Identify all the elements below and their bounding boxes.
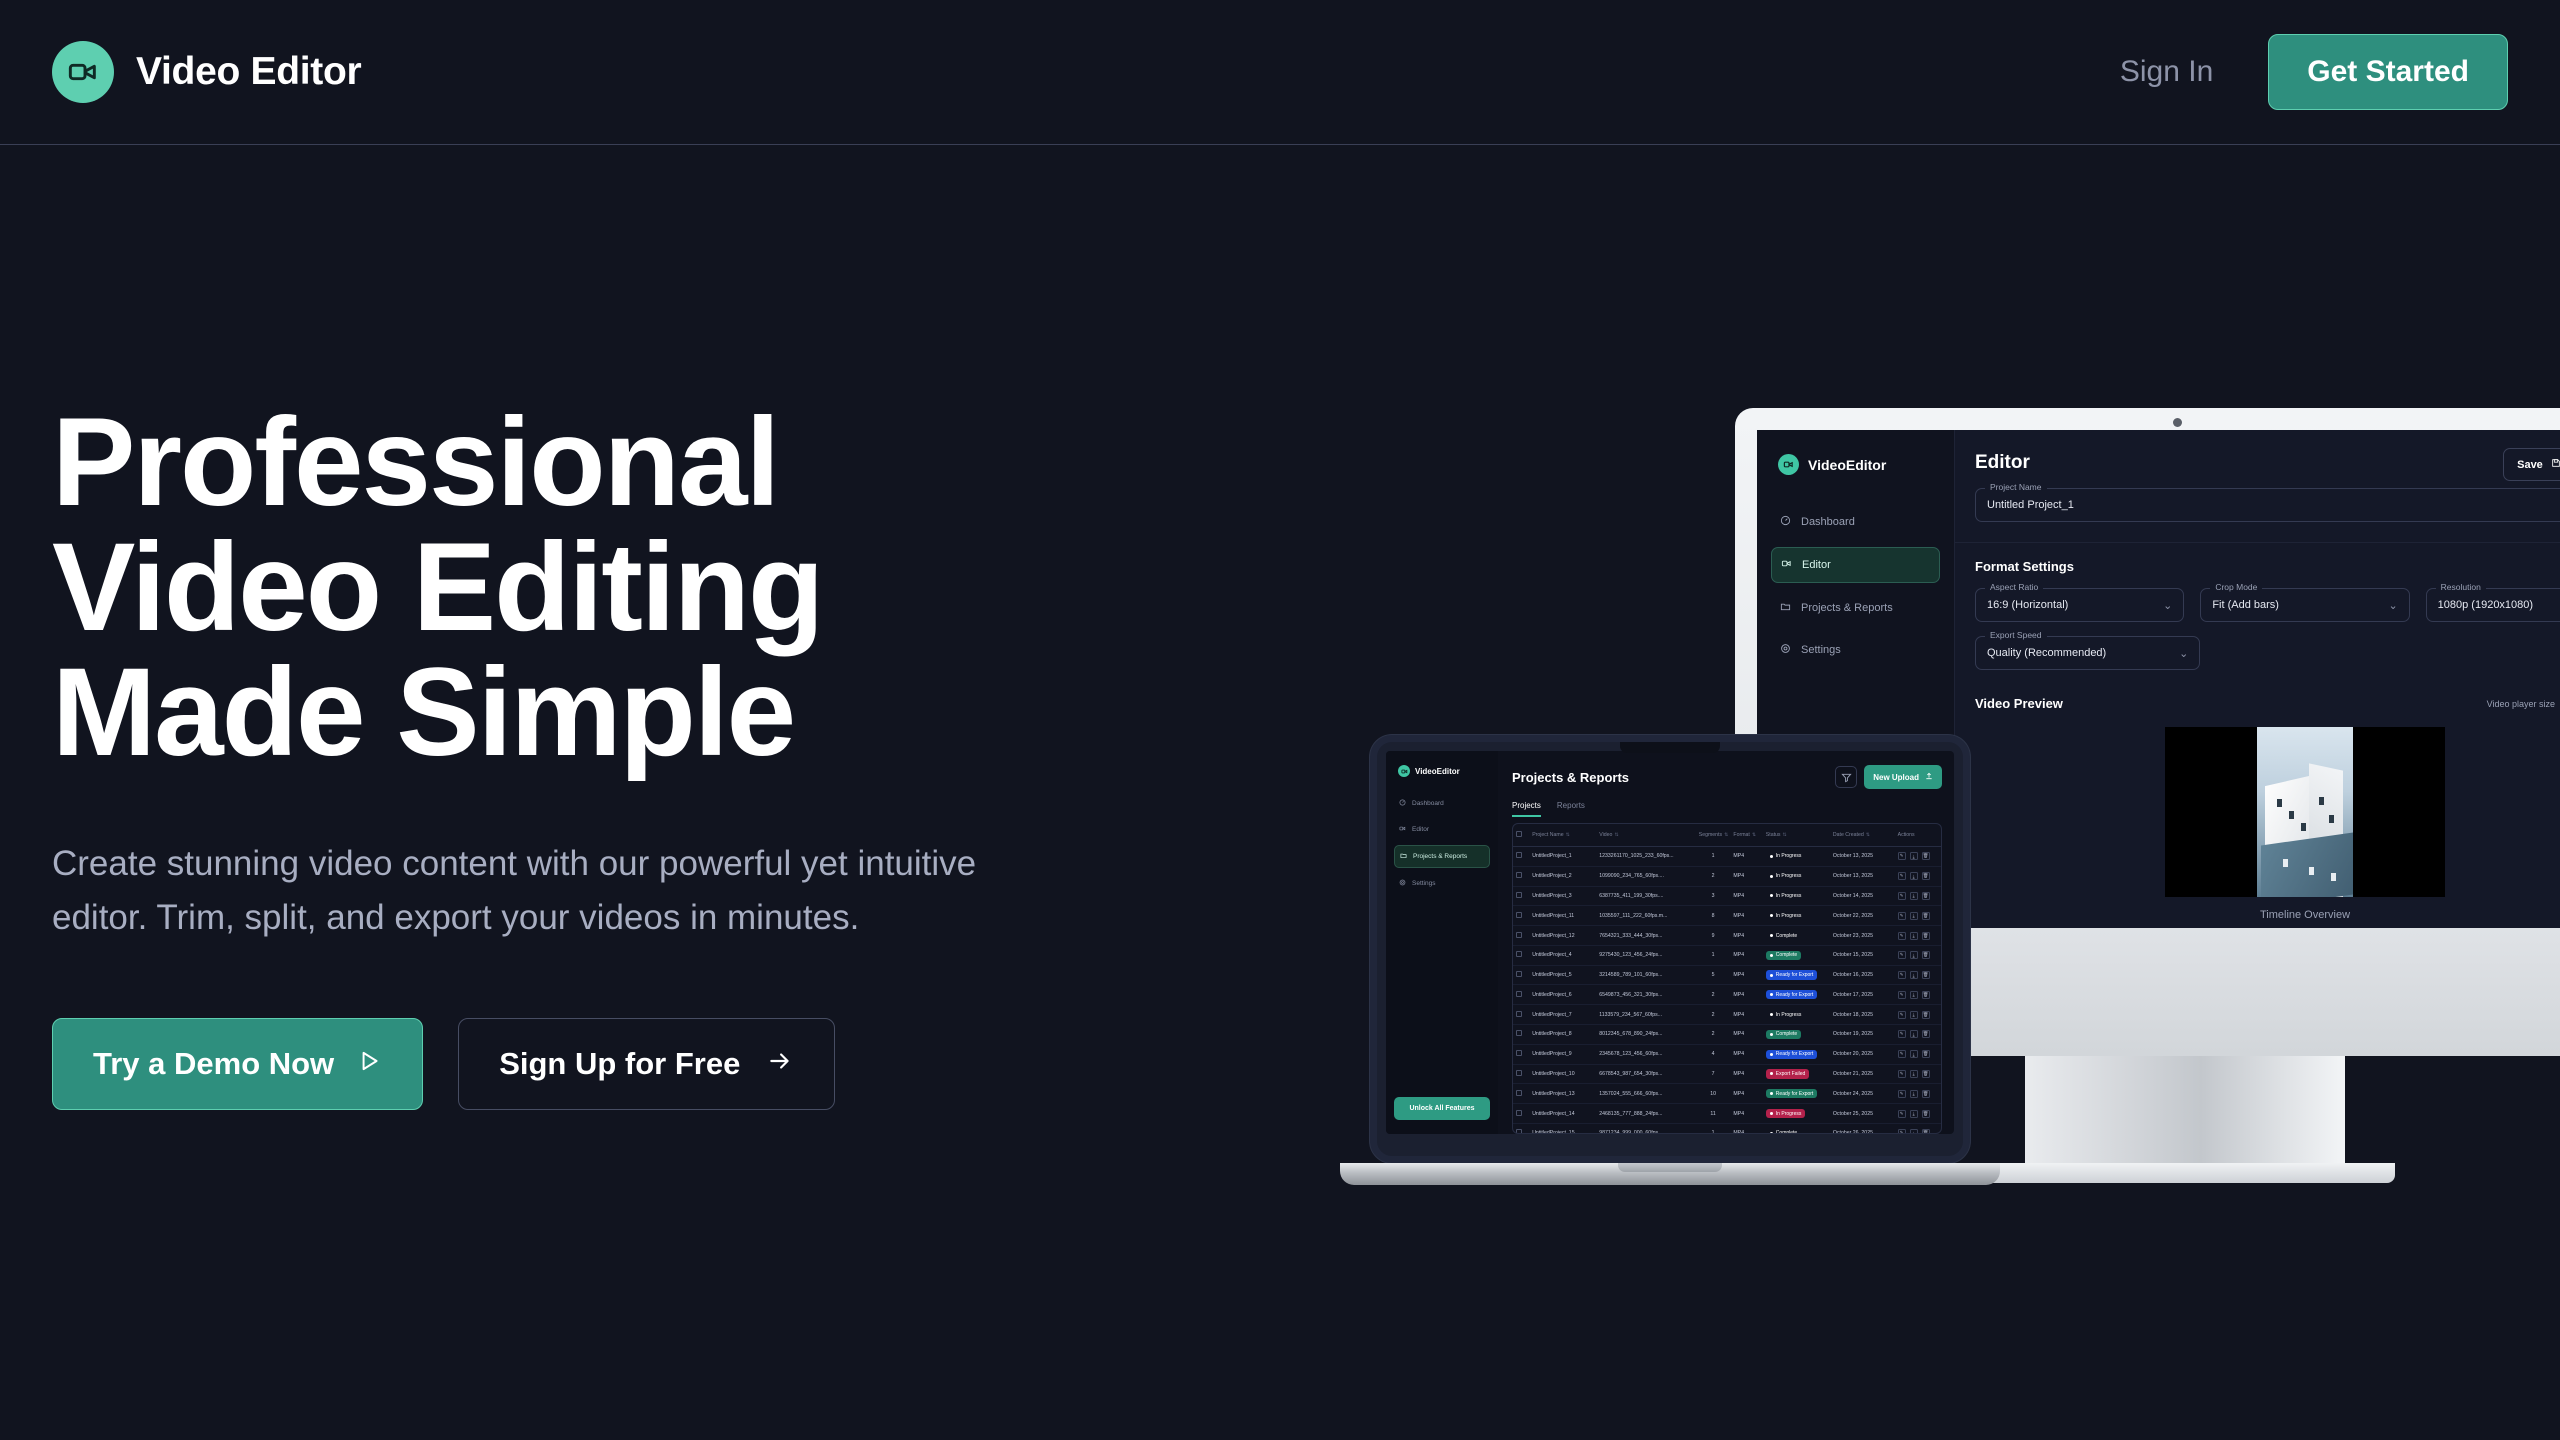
cell-date-created: October 19, 2025 <box>1830 1025 1895 1045</box>
edit-icon[interactable]: ✎ <box>1898 852 1906 860</box>
checkbox-icon[interactable] <box>1516 872 1522 878</box>
cell-actions: ✎⤓🗑 <box>1895 1123 1941 1134</box>
cell-actions: ✎⤓🗑 <box>1895 1044 1941 1064</box>
cell-status: Complete <box>1763 1025 1830 1045</box>
resolution-select[interactable]: Resolution 1080p (1920x1080) ⌄ <box>2426 588 2560 622</box>
sidebar-item-dashboard[interactable]: Dashboard <box>1394 793 1490 814</box>
trash-icon[interactable]: 🗑 <box>1922 892 1930 900</box>
cell-status: Ready for Export <box>1763 965 1830 985</box>
sidebar-item-projects-reports[interactable]: Projects & Reports <box>1394 845 1490 868</box>
cell-status: In Progress <box>1763 1005 1830 1025</box>
sign-in-link[interactable]: Sign In <box>2120 55 2213 89</box>
divider <box>1955 542 2560 543</box>
cell-video: 6678543_987_654_30fps... <box>1596 1064 1695 1084</box>
table-row[interactable]: UntitledProject_127654321_333_444_30fps.… <box>1513 926 1941 946</box>
project-name-field[interactable]: Project Name Untitled Project_1 <box>1975 488 2560 522</box>
cell-segments: 2 <box>1696 866 1731 886</box>
table-row[interactable]: UntitledProject_36387735_411_199_30fps..… <box>1513 886 1941 906</box>
projects-app: VideoEditor Dashboard Editor Projects & … <box>1386 751 1954 1134</box>
row-checkbox[interactable] <box>1513 1123 1529 1134</box>
trash-icon[interactable]: 🗑 <box>1922 951 1930 959</box>
play-triangle-icon <box>356 1046 382 1082</box>
trash-icon[interactable]: 🗑 <box>1922 1030 1930 1038</box>
cell-date-created: October 23, 2025 <box>1830 926 1895 946</box>
sidebar-item-settings[interactable]: Settings <box>1394 873 1490 894</box>
row-checkbox[interactable] <box>1513 985 1529 1005</box>
floppy-disk-icon <box>2551 458 2560 471</box>
format-settings-row-1: Aspect Ratio 16:9 (Horizontal) ⌄ Crop Mo… <box>1975 574 2560 622</box>
cell-video: 1357024_555_666_60fps... <box>1596 1084 1695 1104</box>
try-demo-button[interactable]: Try a Demo Now <box>52 1018 423 1110</box>
cell-actions: ✎⤓🗑 <box>1895 965 1941 985</box>
sign-up-free-button[interactable]: Sign Up for Free <box>458 1018 835 1110</box>
editor-main: Editor Save Exp Project Name Untitled Pr… <box>1955 430 2560 928</box>
sidebar-item-label: Settings <box>1412 880 1436 887</box>
cell-date-created: October 24, 2025 <box>1830 1084 1895 1104</box>
table-row[interactable]: UntitledProject_71133579_234_567_60fps..… <box>1513 1005 1941 1025</box>
cell-actions: ✎⤓🗑 <box>1895 926 1941 946</box>
edit-icon[interactable]: ✎ <box>1898 1030 1906 1038</box>
cell-project-name: UntitledProject_13 <box>1529 1084 1596 1104</box>
sidebar-item-label: Editor <box>1412 826 1429 833</box>
resolution-label: Resolution <box>2436 582 2486 592</box>
gauge-icon <box>1399 799 1406 808</box>
column-date-created[interactable]: Date Created⇅ <box>1830 824 1895 847</box>
cell-project-name: UntitledProject_15 <box>1529 1123 1596 1134</box>
cell-video: 3214589_789_101_60fps... <box>1596 965 1695 985</box>
cell-video: 7654321_333_444_30fps... <box>1596 926 1695 946</box>
row-checkbox[interactable] <box>1513 1064 1529 1084</box>
checkbox-icon[interactable] <box>1516 1050 1522 1056</box>
brand[interactable]: Video Editor <box>52 41 361 103</box>
cell-segments: 2 <box>1696 1025 1731 1045</box>
cell-format: MP4 <box>1730 965 1762 985</box>
projects-header: Projects & Reports New Upload <box>1512 765 1942 789</box>
cell-actions: ✎⤓🗑 <box>1895 866 1941 886</box>
cell-segments: 5 <box>1696 965 1731 985</box>
edit-icon[interactable]: ✎ <box>1898 872 1906 880</box>
download-icon[interactable]: ⤓ <box>1910 1110 1918 1118</box>
cell-format: MP4 <box>1730 866 1762 886</box>
try-demo-label: Try a Demo Now <box>93 1046 334 1082</box>
video-camera-icon <box>1781 558 1792 572</box>
cell-date-created: October 25, 2025 <box>1830 1104 1895 1124</box>
download-icon[interactable]: ⤓ <box>1910 1011 1918 1019</box>
export-speed-value: Quality (Recommended) <box>1987 647 2106 659</box>
checkbox-icon[interactable] <box>1516 932 1522 938</box>
cell-status: Ready for Export <box>1763 1084 1830 1104</box>
edit-icon[interactable]: ✎ <box>1898 912 1906 920</box>
status-badge: Complete <box>1766 1129 1801 1134</box>
trash-icon[interactable]: 🗑 <box>1922 1050 1930 1058</box>
edit-icon[interactable]: ✎ <box>1898 971 1906 979</box>
cell-date-created: October 13, 2025 <box>1830 866 1895 886</box>
row-checkbox[interactable] <box>1513 945 1529 965</box>
folder-icon <box>1400 852 1407 861</box>
cell-format: MP4 <box>1730 847 1762 867</box>
status-badge: In Progress <box>1766 852 1806 861</box>
cell-actions: ✎⤓🗑 <box>1895 945 1941 965</box>
sidebar-item-label: Dashboard <box>1801 516 1855 528</box>
trash-icon[interactable]: 🗑 <box>1922 912 1930 920</box>
page-title: Professional Video Editing Made Simple <box>52 400 1200 775</box>
cell-project-name: UntitledProject_6 <box>1529 985 1596 1005</box>
status-badge: In Progress <box>1766 1109 1806 1118</box>
row-checkbox[interactable] <box>1513 866 1529 886</box>
cell-date-created: October 20, 2025 <box>1830 1044 1895 1064</box>
upload-icon <box>1925 772 1933 782</box>
site-header: Video Editor Sign In Get Started <box>0 0 2560 145</box>
sidebar-item-editor[interactable]: Editor <box>1394 819 1490 840</box>
table-row[interactable]: UntitledProject_53214589_789_101_60fps..… <box>1513 965 1941 985</box>
cell-date-created: October 21, 2025 <box>1830 1064 1895 1084</box>
edit-icon[interactable]: ✎ <box>1898 1011 1906 1019</box>
cell-actions: ✎⤓🗑 <box>1895 1104 1941 1124</box>
row-checkbox[interactable] <box>1513 1025 1529 1045</box>
download-icon[interactable]: ⤓ <box>1910 951 1918 959</box>
notch <box>1620 742 1720 753</box>
cell-segments: 9 <box>1696 926 1731 946</box>
edit-icon[interactable]: ✎ <box>1898 1070 1906 1078</box>
row-checkbox[interactable] <box>1513 965 1529 985</box>
cell-format: MP4 <box>1730 906 1762 926</box>
editor-header-actions: Save Exp <box>2503 448 2560 481</box>
download-icon[interactable]: ⤓ <box>1910 971 1918 979</box>
cell-status: In Progress <box>1763 847 1830 867</box>
checkbox-icon[interactable] <box>1516 1090 1522 1096</box>
cell-status: Ready for Export <box>1763 1044 1830 1064</box>
sidebar-item-label: Projects & Reports <box>1801 602 1893 614</box>
cell-status: In Progress <box>1763 886 1830 906</box>
cell-actions: ✎⤓🗑 <box>1895 1005 1941 1025</box>
download-icon[interactable]: ⤓ <box>1910 1030 1918 1038</box>
cell-project-name: UntitledProject_14 <box>1529 1104 1596 1124</box>
save-label: Save <box>2517 459 2543 471</box>
cell-actions: ✎⤓🗑 <box>1895 847 1941 867</box>
cell-video: 2468135_777_888_24fps... <box>1596 1104 1695 1124</box>
new-upload-button[interactable]: New Upload <box>1864 765 1942 789</box>
row-checkbox[interactable] <box>1513 1084 1529 1104</box>
edit-icon[interactable]: ✎ <box>1898 991 1906 999</box>
cell-date-created: October 17, 2025 <box>1830 985 1895 1005</box>
edit-icon[interactable]: ✎ <box>1898 1129 1906 1134</box>
table-row[interactable]: UntitledProject_106678543_987_654_30fps.… <box>1513 1064 1941 1084</box>
download-icon[interactable]: ⤓ <box>1910 1129 1918 1134</box>
hero-section: Professional Video Editing Made Simple C… <box>0 145 1200 1110</box>
aspect-ratio-select[interactable]: Aspect Ratio 16:9 (Horizontal) ⌄ <box>1975 588 2184 622</box>
project-name-label: Project Name <box>1985 482 2047 492</box>
format-settings-row-2: Export Speed Quality (Recommended) ⌄ <box>1975 622 2560 670</box>
cell-format: MP4 <box>1730 945 1762 965</box>
row-checkbox[interactable] <box>1513 1044 1529 1064</box>
edit-icon[interactable]: ✎ <box>1898 1050 1906 1058</box>
edit-icon[interactable]: ✎ <box>1898 932 1906 940</box>
video-player-size-control[interactable]: Video player size <box>2487 699 2560 709</box>
sidebar-item-label: Projects & Reports <box>1413 853 1467 860</box>
cell-actions: ✎⤓🗑 <box>1895 985 1941 1005</box>
checkbox-icon[interactable] <box>1516 1129 1522 1134</box>
editor-brand: VideoEditor <box>1771 454 1940 475</box>
column-format[interactable]: Format⇅ <box>1730 824 1762 847</box>
sidebar-item-editor[interactable]: Editor <box>1771 547 1940 583</box>
table-row[interactable]: UntitledProject_88012345_678_890_24fps..… <box>1513 1025 1941 1045</box>
resolution-value: 1080p (1920x1080) <box>2438 599 2533 611</box>
row-checkbox[interactable] <box>1513 1104 1529 1124</box>
cell-date-created: October 18, 2025 <box>1830 1005 1895 1025</box>
cell-status: In Progress <box>1763 866 1830 886</box>
trash-icon[interactable]: 🗑 <box>1922 1110 1930 1118</box>
download-icon[interactable]: ⤓ <box>1910 1090 1918 1098</box>
tab-projects[interactable]: Projects <box>1512 801 1541 817</box>
sidebar-item-dashboard[interactable]: Dashboard <box>1771 505 1940 539</box>
row-checkbox[interactable] <box>1513 886 1529 906</box>
filter-funnel-icon[interactable] <box>1835 766 1857 788</box>
crop-mode-value: Fit (Add bars) <box>2212 599 2279 611</box>
status-badge: In Progress <box>1766 891 1806 900</box>
checkbox-icon[interactable] <box>1516 912 1522 918</box>
cell-actions: ✎⤓🗑 <box>1895 906 1941 926</box>
edit-icon[interactable]: ✎ <box>1898 1110 1906 1118</box>
aspect-ratio-value: 16:9 (Horizontal) <box>1987 599 2068 611</box>
edit-icon[interactable]: ✎ <box>1898 1090 1906 1098</box>
column-project-name[interactable]: Project Name⇅ <box>1529 824 1596 847</box>
cell-video: 2345678_123_456_60fps... <box>1596 1044 1695 1064</box>
cell-actions: ✎⤓🗑 <box>1895 1084 1941 1104</box>
status-badge: Complete <box>1766 951 1801 960</box>
download-icon[interactable]: ⤓ <box>1910 932 1918 940</box>
download-icon[interactable]: ⤓ <box>1910 1050 1918 1058</box>
checkbox-icon[interactable] <box>1516 1110 1522 1116</box>
trash-icon[interactable]: 🗑 <box>1922 872 1930 880</box>
table-row[interactable]: UntitledProject_131357024_555_666_60fps.… <box>1513 1084 1941 1104</box>
trash-icon[interactable]: 🗑 <box>1922 1011 1930 1019</box>
table-row[interactable]: UntitledProject_11233261170_1025_233_60f… <box>1513 847 1941 867</box>
projects-sidebar: VideoEditor Dashboard Editor Projects & … <box>1386 751 1498 1134</box>
video-preview-frame[interactable] <box>2165 727 2445 897</box>
arrow-right-icon <box>766 1046 794 1082</box>
checkbox-icon[interactable] <box>1516 951 1522 957</box>
cell-format: MP4 <box>1730 1064 1762 1084</box>
table-header: Project Name⇅ Video⇅ Segments⇅ Format⇅ S… <box>1513 824 1941 847</box>
row-checkbox[interactable] <box>1513 926 1529 946</box>
column-video[interactable]: Video⇅ <box>1596 824 1695 847</box>
cell-status: Export Failed <box>1763 1064 1830 1084</box>
brand-name: Video Editor <box>136 50 361 94</box>
editor-header: Editor Save Exp <box>1975 452 2560 474</box>
cell-segments: 1 <box>1696 945 1731 965</box>
cell-date-created: October 22, 2025 <box>1830 906 1895 926</box>
editor-brand-name: VideoEditor <box>1808 457 1886 473</box>
projects-brand-name: VideoEditor <box>1415 767 1460 776</box>
trash-icon[interactable]: 🗑 <box>1922 1129 1930 1134</box>
checkbox-icon[interactable] <box>1516 831 1522 837</box>
status-badge: Complete <box>1766 1030 1801 1039</box>
sidebar-item-settings[interactable]: Settings <box>1771 633 1940 667</box>
video-preview-header: Video Preview Video player size <box>1975 696 2560 711</box>
chevron-down-icon: ⌄ <box>2163 599 2172 612</box>
table-row[interactable]: UntitledProject_49275430_123_456_24fps..… <box>1513 945 1941 965</box>
cell-format: MP4 <box>1730 1104 1762 1124</box>
trash-icon[interactable]: 🗑 <box>1922 852 1930 860</box>
sidebar-item-label: Settings <box>1801 644 1841 656</box>
get-started-button[interactable]: Get Started <box>2268 34 2508 110</box>
row-checkbox[interactable] <box>1513 847 1529 867</box>
trash-icon[interactable]: 🗑 <box>1922 991 1930 999</box>
cell-format: MP4 <box>1730 1044 1762 1064</box>
cell-project-name: UntitledProject_10 <box>1529 1064 1596 1084</box>
checkbox-icon[interactable] <box>1516 1011 1522 1017</box>
column-segments[interactable]: Segments⇅ <box>1696 824 1731 847</box>
sign-up-free-label: Sign Up for Free <box>499 1046 740 1082</box>
cell-date-created: October 14, 2025 <box>1830 886 1895 906</box>
cell-status: In Progress <box>1763 1104 1830 1124</box>
video-camera-icon <box>1778 454 1799 475</box>
cell-date-created: October 15, 2025 <box>1830 945 1895 965</box>
status-badge: In Progress <box>1766 1010 1806 1019</box>
cell-project-name: UntitledProject_11 <box>1529 906 1596 926</box>
row-checkbox[interactable] <box>1513 1005 1529 1025</box>
webcam-icon <box>2173 418 2182 427</box>
cell-format: MP4 <box>1730 1025 1762 1045</box>
trash-icon[interactable]: 🗑 <box>1922 932 1930 940</box>
cell-project-name: UntitledProject_7 <box>1529 1005 1596 1025</box>
cell-segments: 8 <box>1696 906 1731 926</box>
export-speed-label: Export Speed <box>1985 630 2047 640</box>
status-badge: Ready for Export <box>1766 1089 1818 1098</box>
table-row[interactable]: UntitledProject_66549873_456_321_30fps..… <box>1513 985 1941 1005</box>
table-row[interactable]: UntitledProject_111035597_111_222_60fps.… <box>1513 906 1941 926</box>
table-row[interactable]: UntitledProject_92345678_123_456_60fps..… <box>1513 1044 1941 1064</box>
edit-icon[interactable]: ✎ <box>1898 951 1906 959</box>
edit-icon[interactable]: ✎ <box>1898 892 1906 900</box>
export-speed-select[interactable]: Export Speed Quality (Recommended) ⌄ <box>1975 636 2200 670</box>
download-icon[interactable]: ⤓ <box>1910 852 1918 860</box>
cell-project-name: UntitledProject_1 <box>1529 847 1596 867</box>
cell-status: Complete <box>1763 1123 1830 1134</box>
video-player-size-label: Video player size <box>2487 699 2555 709</box>
checkbox-icon[interactable] <box>1516 971 1522 977</box>
checkbox-icon[interactable] <box>1516 892 1522 898</box>
cell-video: 1233261170_1025_233_60fps... <box>1596 847 1695 867</box>
download-icon[interactable]: ⤓ <box>1910 1070 1918 1078</box>
gauge-icon <box>1780 515 1791 529</box>
cell-project-name: UntitledProject_3 <box>1529 886 1596 906</box>
cell-project-name: UntitledProject_4 <box>1529 945 1596 965</box>
projects-table-container: Project Name⇅ Video⇅ Segments⇅ Format⇅ S… <box>1512 823 1942 1134</box>
column-select-all[interactable] <box>1513 824 1529 847</box>
cell-format: MP4 <box>1730 1123 1762 1134</box>
video-camera-icon <box>1399 825 1406 834</box>
cell-status: Complete <box>1763 926 1830 946</box>
cell-video: 1099090_234_765_60fps.... <box>1596 866 1695 886</box>
tab-reports[interactable]: Reports <box>1557 801 1585 817</box>
cell-project-name: UntitledProject_9 <box>1529 1044 1596 1064</box>
video-camera-icon <box>1398 765 1410 777</box>
unlock-all-features-button[interactable]: Unlock All Features <box>1394 1097 1490 1120</box>
cell-date-created: October 16, 2025 <box>1830 965 1895 985</box>
checkbox-icon[interactable] <box>1516 991 1522 997</box>
download-icon[interactable]: ⤓ <box>1910 892 1918 900</box>
cell-project-name: UntitledProject_5 <box>1529 965 1596 985</box>
video-camera-icon <box>52 41 114 103</box>
video-preview-thumbnail <box>2257 727 2353 897</box>
projects-brand: VideoEditor <box>1394 765 1490 777</box>
cell-segments: 11 <box>1696 1104 1731 1124</box>
save-button[interactable]: Save <box>2503 448 2560 481</box>
cell-project-name: UntitledProject_8 <box>1529 1025 1596 1045</box>
projects-page-title: Projects & Reports <box>1512 770 1629 785</box>
cell-format: MP4 <box>1730 926 1762 946</box>
crop-mode-select[interactable]: Crop Mode Fit (Add bars) ⌄ <box>2200 588 2409 622</box>
cell-status: Complete <box>1763 945 1830 965</box>
trash-icon[interactable]: 🗑 <box>1922 1090 1930 1098</box>
status-badge: Ready for Export <box>1766 970 1818 979</box>
cell-segments: 10 <box>1696 1084 1731 1104</box>
status-badge: In Progress <box>1766 872 1806 881</box>
cell-video: 8012345_678_890_24fps... <box>1596 1025 1695 1045</box>
cell-project-name: UntitledProject_12 <box>1529 926 1596 946</box>
video-preview-title: Video Preview <box>1975 696 2063 711</box>
cell-status: In Progress <box>1763 906 1830 926</box>
cell-segments: 2 <box>1696 1005 1731 1025</box>
cell-format: MP4 <box>1730 985 1762 1005</box>
checkbox-icon[interactable] <box>1516 1030 1522 1036</box>
column-actions: Actions <box>1895 824 1941 847</box>
table-row[interactable]: UntitledProject_142468135_777_888_24fps.… <box>1513 1104 1941 1124</box>
sidebar-item-label: Dashboard <box>1412 800 1444 807</box>
checkbox-icon[interactable] <box>1516 1070 1522 1076</box>
projects-tabs: Projects Reports <box>1512 801 1942 817</box>
trash-icon[interactable]: 🗑 <box>1922 1070 1930 1078</box>
status-badge: In Progress <box>1766 911 1806 920</box>
status-badge: Export Failed <box>1766 1069 1809 1078</box>
format-settings-title: Format Settings <box>1975 559 2560 574</box>
cell-actions: ✎⤓🗑 <box>1895 1064 1941 1084</box>
sidebar-item-projects-reports[interactable]: Projects & Reports <box>1771 591 1940 625</box>
status-badge: Ready for Export <box>1766 1050 1818 1059</box>
macbook-base-notch <box>1618 1163 1722 1172</box>
download-icon[interactable]: ⤓ <box>1910 872 1918 880</box>
imac-stand <box>2025 1056 2345 1171</box>
cell-actions: ✎⤓🗑 <box>1895 886 1941 906</box>
checkbox-icon[interactable] <box>1516 852 1522 858</box>
table-row[interactable]: UntitledProject_159871234_999_000_60fps.… <box>1513 1123 1941 1134</box>
row-checkbox[interactable] <box>1513 906 1529 926</box>
table-row[interactable]: UntitledProject_21099090_234_765_60fps..… <box>1513 866 1941 886</box>
cell-video: 6549873_456_321_30fps... <box>1596 985 1695 1005</box>
cell-video: 1035597_111_222_60fps.m... <box>1596 906 1695 926</box>
folder-icon <box>1780 601 1791 615</box>
cell-video: 9275430_123_456_24fps... <box>1596 945 1695 965</box>
header-actions: Sign In Get Started <box>2120 34 2508 110</box>
cell-video: 9871234_999_000_60fps... <box>1596 1123 1695 1134</box>
chevron-down-icon: ⌄ <box>2179 647 2188 660</box>
hero-subtitle: Create stunning video content with our p… <box>52 837 1142 946</box>
gear-icon <box>1399 879 1406 888</box>
sidebar-item-label: Editor <box>1802 559 1831 571</box>
projects-main: Projects & Reports New Upload Projects R… <box>1498 751 1954 1134</box>
download-icon[interactable]: ⤓ <box>1910 991 1918 999</box>
cell-segments: 2 <box>1696 985 1731 1005</box>
column-status[interactable]: Status⇅ <box>1763 824 1830 847</box>
download-icon[interactable]: ⤓ <box>1910 912 1918 920</box>
cell-date-created: October 13, 2025 <box>1830 847 1895 867</box>
cell-video: 6387735_411_199_30fps.... <box>1596 886 1695 906</box>
new-upload-label: New Upload <box>1873 773 1919 782</box>
trash-icon[interactable]: 🗑 <box>1922 971 1930 979</box>
cell-segments: 1 <box>1696 1123 1731 1134</box>
cell-project-name: UntitledProject_2 <box>1529 866 1596 886</box>
